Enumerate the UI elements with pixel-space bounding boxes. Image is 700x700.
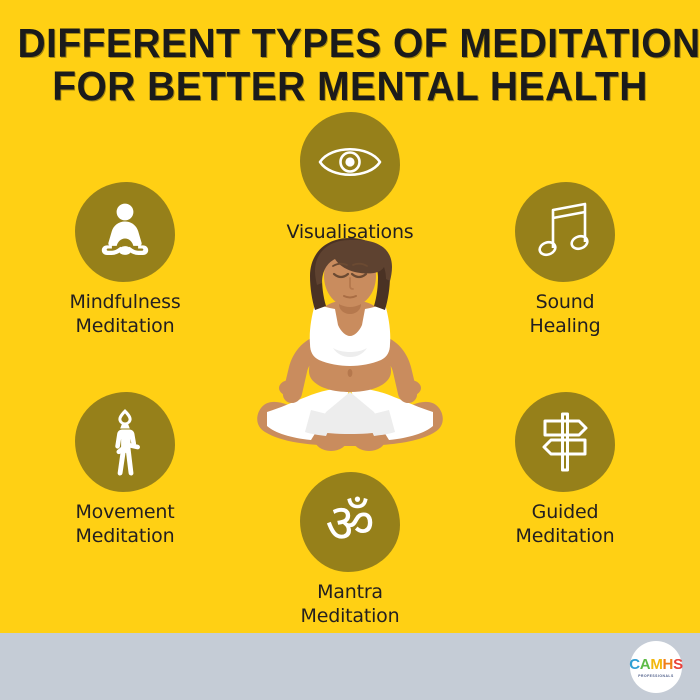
signpost-icon bbox=[534, 411, 596, 473]
badge-mindfulness bbox=[75, 182, 175, 282]
camhs-logo-subtitle: PROFESSIONALS bbox=[638, 674, 674, 678]
eye-pupil bbox=[345, 157, 354, 166]
node-label-sound-healing: Sound Healing bbox=[475, 291, 655, 339]
node-label-guided: Guided Meditation bbox=[475, 501, 655, 549]
woman-meditating-lotus-pose bbox=[245, 238, 455, 470]
svg-text:ॐ: ॐ bbox=[325, 492, 374, 555]
eye-icon bbox=[317, 139, 383, 185]
node-label-mantra: Mantra Meditation bbox=[260, 581, 440, 629]
poster-title: DIFFERENT TYPES OF MEDITATION FOR BETTER… bbox=[0, 22, 700, 107]
title-line-2: FOR BETTER MENTAL HEALTH bbox=[18, 65, 683, 108]
tree-pose-yoga-figure-icon bbox=[100, 407, 150, 477]
music-note-icon bbox=[538, 201, 592, 263]
hand-left bbox=[279, 380, 301, 396]
node-movement-meditation[interactable]: Movement Meditation bbox=[35, 392, 215, 549]
node-mindfulness-meditation[interactable]: Mindfulness Meditation bbox=[35, 182, 215, 339]
badge-sound-healing bbox=[515, 182, 615, 282]
node-visualisations[interactable]: Visualisations bbox=[260, 112, 440, 245]
node-sound-healing[interactable]: Sound Healing bbox=[475, 182, 655, 339]
badge-guided bbox=[515, 392, 615, 492]
badge-movement bbox=[75, 392, 175, 492]
node-guided-meditation[interactable]: Guided Meditation bbox=[475, 392, 655, 549]
logo-letter-s: S bbox=[673, 656, 683, 673]
hand-right bbox=[399, 380, 421, 396]
camhs-logo-wordmark: CAMHS bbox=[629, 657, 683, 672]
footer-bar: CAMHS PROFESSIONALS bbox=[0, 633, 700, 700]
om-symbol-icon: ॐ bbox=[314, 486, 386, 558]
badge-mantra: ॐ bbox=[300, 472, 400, 572]
logo-letter-a: A bbox=[640, 656, 651, 673]
node-label-movement: Movement Meditation bbox=[35, 501, 215, 549]
title-line-1: DIFFERENT TYPES OF MEDITATION bbox=[18, 22, 683, 65]
logo-letter-h: H bbox=[663, 656, 674, 673]
logo-letter-c: C bbox=[629, 656, 640, 673]
logo-letter-m: M bbox=[650, 656, 662, 673]
node-mantra-meditation[interactable]: ॐ Mantra Meditation bbox=[260, 472, 440, 629]
camhs-logo[interactable]: CAMHS PROFESSIONALS bbox=[630, 641, 682, 693]
lotus-meditation-figure-icon bbox=[93, 200, 157, 264]
node-label-mindfulness: Mindfulness Meditation bbox=[35, 291, 215, 339]
poster-canvas: DIFFERENT TYPES OF MEDITATION FOR BETTER… bbox=[0, 0, 700, 700]
badge-visualisations bbox=[300, 112, 400, 212]
navel bbox=[348, 369, 353, 377]
